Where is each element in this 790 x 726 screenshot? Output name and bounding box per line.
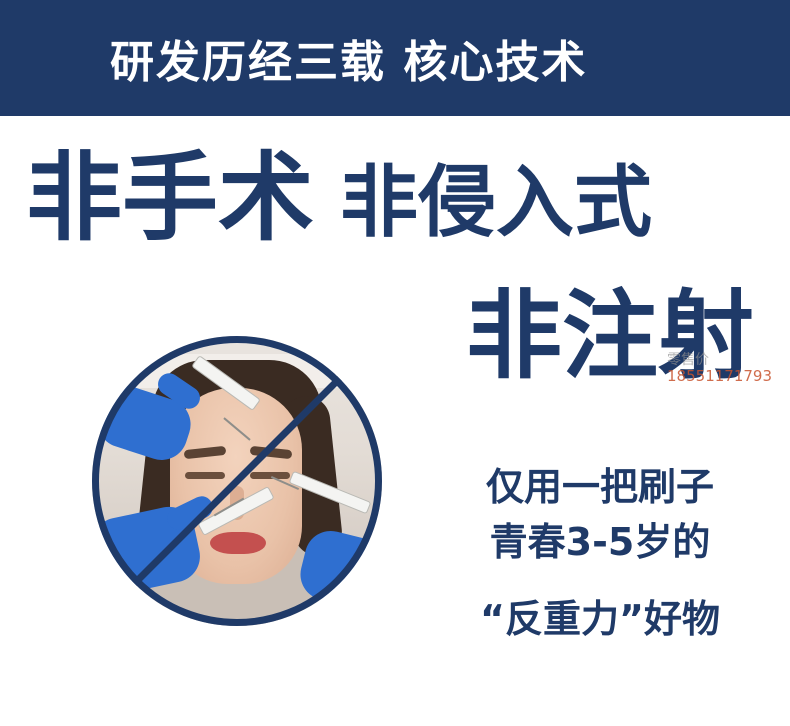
headline-non-injection: 非注射 — [466, 288, 754, 384]
cosmetic-injection-photo — [92, 336, 382, 626]
no-injection-graphic — [92, 336, 382, 626]
poster: 研发历经三载 核心技术 非手术 非侵入式 非注射 零售价 18551171793… — [0, 0, 790, 726]
subline-group: 仅用一把刷子 青春3-5岁的 “反重力”好物 — [440, 460, 760, 647]
top-banner: 研发历经三载 核心技术 — [0, 0, 790, 116]
lips — [210, 532, 266, 554]
headline-non-invasive: 非侵入式 — [340, 164, 652, 242]
banner-title: 研发历经三载 核心技术 — [110, 26, 587, 90]
headline-non-surgical: 非手术 — [26, 150, 314, 246]
eye-right — [250, 472, 290, 479]
subline-1: 仅用一把刷子 — [440, 460, 760, 515]
subline-2: 青春3-5岁的 — [440, 515, 760, 570]
subline-3: “反重力”好物 — [440, 592, 760, 647]
headline-row-1: 非手术 非侵入式 — [26, 150, 652, 246]
headline-row-2: 非注射 — [466, 288, 754, 384]
eye-left — [185, 472, 225, 479]
